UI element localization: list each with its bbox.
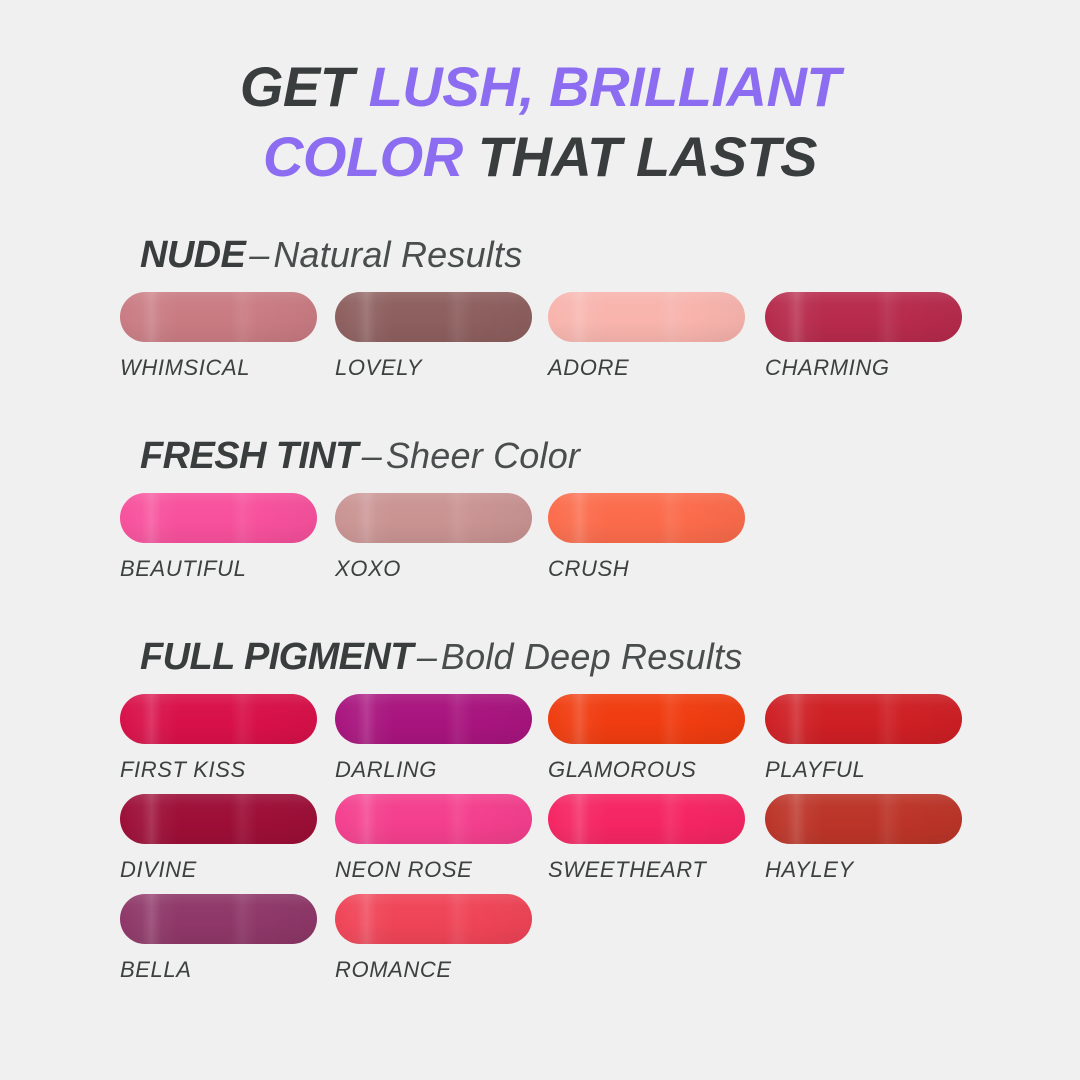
section-full-pigment: FULL PIGMENT–Bold Deep Results FIRST KIS…	[0, 638, 1080, 994]
headline-text-get: GET	[240, 55, 369, 118]
swatch-row: BEAUTIFUL XOXO CRUSH	[120, 493, 1080, 593]
category-description-fresh-tint: Sheer Color	[386, 435, 580, 476]
swatch-chip[interactable]	[765, 292, 962, 342]
swatch-chip[interactable]	[120, 493, 317, 543]
category-name-full-pigment: FULL PIGMENT	[140, 636, 413, 678]
swatch-label: HAYLEY	[765, 857, 962, 883]
swatch-chip[interactable]	[765, 794, 962, 844]
swatch-row: WHIMSICAL LOVELY ADORE CHARMING	[120, 292, 1080, 392]
category-description-nude: Natural Results	[273, 234, 522, 275]
category-description-full-pigment: Bold Deep Results	[441, 636, 743, 677]
swatch-chip[interactable]	[335, 794, 532, 844]
headline-accent-lush-brilliant: LUSH, BRILLIANT	[369, 55, 841, 118]
swatch-chip[interactable]	[335, 894, 532, 944]
swatch-item[interactable]: XOXO	[335, 493, 532, 582]
swatch-item[interactable]: LOVELY	[335, 292, 532, 381]
swatch-chip[interactable]	[120, 894, 317, 944]
swatch-item[interactable]: ADORE	[548, 292, 745, 381]
swatch-label: WHIMSICAL	[120, 355, 317, 381]
swatch-row: BELLA ROMANCE	[120, 894, 1080, 994]
swatch-label: LOVELY	[335, 355, 532, 381]
swatch-item[interactable]: PLAYFUL	[765, 694, 962, 783]
swatch-chip[interactable]	[335, 694, 532, 744]
headline-accent-color: COLOR	[263, 125, 463, 188]
swatch-label: CRUSH	[548, 556, 745, 582]
swatch-label: BEAUTIFUL	[120, 556, 317, 582]
swatch-chip[interactable]	[335, 493, 532, 543]
swatch-label: DARLING	[335, 757, 532, 783]
swatch-label: GLAMOROUS	[548, 757, 745, 783]
headline-line-2: COLOR THAT LASTS	[0, 122, 1080, 192]
section-heading-fresh-tint: FRESH TINT–Sheer Color	[140, 437, 1080, 493]
swatch-item[interactable]: FIRST KISS	[120, 694, 317, 783]
swatch-item[interactable]: BELLA	[120, 894, 317, 983]
swatch-chip[interactable]	[120, 694, 317, 744]
swatch-label: SWEETHEART	[548, 857, 745, 883]
category-name-fresh-tint: FRESH TINT	[140, 435, 358, 477]
swatch-chip[interactable]	[765, 694, 962, 744]
swatch-item[interactable]: CHARMING	[765, 292, 962, 381]
swatch-grid-fresh-tint: BEAUTIFUL XOXO CRUSH	[0, 493, 1080, 593]
swatch-row: FIRST KISS DARLING GLAMOROUS PLAYFUL	[120, 694, 1080, 794]
swatch-label: BELLA	[120, 957, 317, 983]
category-name-nude: NUDE	[140, 234, 245, 276]
swatch-label: XOXO	[335, 556, 532, 582]
section-fresh-tint: FRESH TINT–Sheer Color BEAUTIFUL XOXO CR…	[0, 437, 1080, 593]
category-dash-full-pigment: –	[413, 636, 441, 677]
category-dash-nude: –	[245, 234, 273, 275]
swatch-chip[interactable]	[548, 794, 745, 844]
swatch-item[interactable]: HAYLEY	[765, 794, 962, 883]
swatch-item[interactable]: SWEETHEART	[548, 794, 745, 883]
swatch-label: NEON ROSE	[335, 857, 532, 883]
swatch-item[interactable]: CRUSH	[548, 493, 745, 582]
headline-text-that-lasts: THAT LASTS	[463, 125, 817, 188]
swatch-item[interactable]: WHIMSICAL	[120, 292, 317, 381]
swatch-item[interactable]: DARLING	[335, 694, 532, 783]
swatch-label: FIRST KISS	[120, 757, 317, 783]
swatch-label: DIVINE	[120, 857, 317, 883]
swatch-chip[interactable]	[120, 794, 317, 844]
swatch-item[interactable]: BEAUTIFUL	[120, 493, 317, 582]
swatch-label: CHARMING	[765, 355, 962, 381]
swatch-chip[interactable]	[335, 292, 532, 342]
category-dash-fresh-tint: –	[358, 435, 386, 476]
swatch-grid-nude: WHIMSICAL LOVELY ADORE CHARMING	[0, 292, 1080, 392]
swatch-chip[interactable]	[548, 292, 745, 342]
swatch-chip[interactable]	[548, 493, 745, 543]
swatch-chip[interactable]	[120, 292, 317, 342]
swatch-item[interactable]: GLAMOROUS	[548, 694, 745, 783]
swatch-label: ROMANCE	[335, 957, 532, 983]
section-heading-full-pigment: FULL PIGMENT–Bold Deep Results	[140, 638, 1080, 694]
swatch-row: DIVINE NEON ROSE SWEETHEART HAYLEY	[120, 794, 1080, 894]
swatch-item[interactable]: DIVINE	[120, 794, 317, 883]
headline-line-1: GET LUSH, BRILLIANT	[0, 52, 1080, 122]
swatch-label: ADORE	[548, 355, 745, 381]
swatch-chip[interactable]	[548, 694, 745, 744]
swatch-item[interactable]: NEON ROSE	[335, 794, 532, 883]
swatch-grid-full-pigment: FIRST KISS DARLING GLAMOROUS PLAYFUL DIV…	[0, 694, 1080, 994]
swatch-item[interactable]: ROMANCE	[335, 894, 532, 983]
page-title: GET LUSH, BRILLIANT COLOR THAT LASTS	[0, 52, 1080, 192]
swatch-label: PLAYFUL	[765, 757, 962, 783]
section-heading-nude: NUDE–Natural Results	[140, 236, 1080, 292]
section-nude: NUDE–Natural Results WHIMSICAL LOVELY AD…	[0, 236, 1080, 392]
